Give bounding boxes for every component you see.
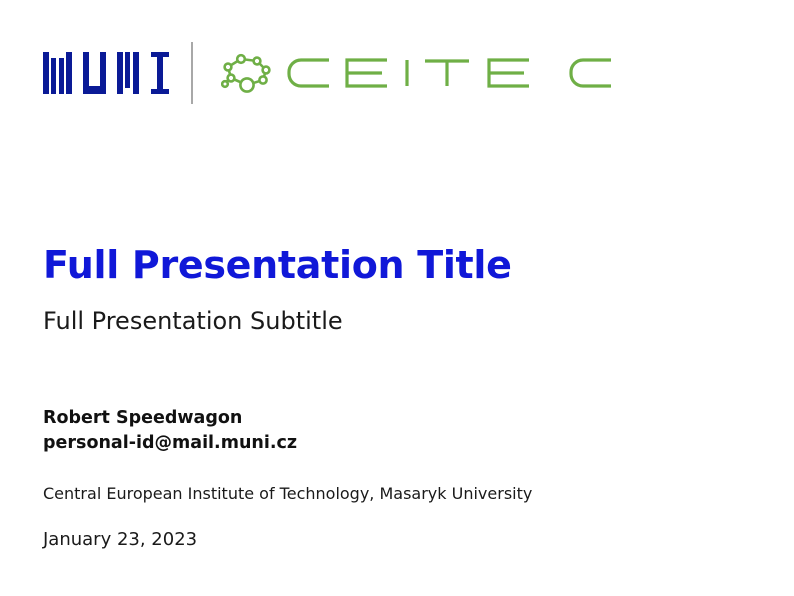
page-title: Full Presentation Title	[43, 243, 512, 287]
author-name: Robert Speedwagon	[43, 406, 297, 431]
title-slide: Full Presentation Title Full Presentatio…	[0, 0, 794, 596]
logo-bar	[43, 42, 615, 104]
page-subtitle: Full Presentation Subtitle	[43, 306, 343, 336]
presentation-date: January 23, 2023	[43, 528, 197, 552]
muni-logo-mark	[43, 52, 169, 94]
ceitec-logo	[221, 50, 615, 96]
author-email: personal-id@mail.muni.cz	[43, 431, 297, 456]
affiliation: Central European Institute of Technology…	[43, 483, 532, 505]
muni-logo	[43, 52, 169, 94]
logo-divider	[191, 42, 193, 104]
molecule-network-icon	[221, 51, 273, 95]
ceitec-wordmark	[285, 56, 615, 90]
author-block: Robert Speedwagon personal-id@mail.muni.…	[43, 406, 297, 456]
